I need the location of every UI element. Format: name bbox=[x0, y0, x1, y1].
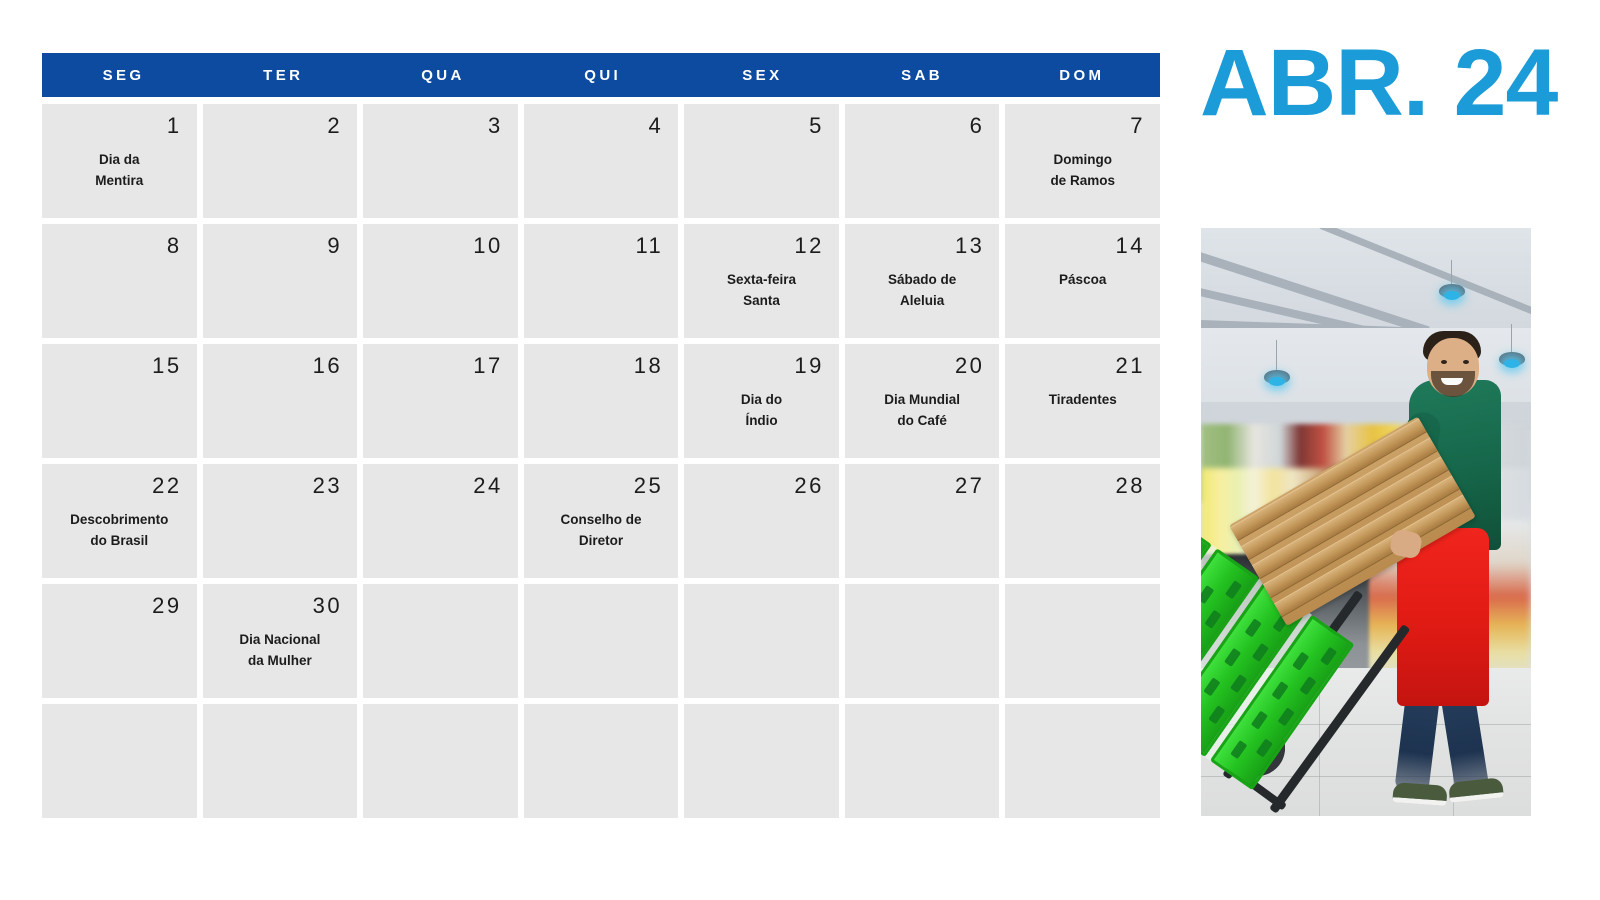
calendar-week-row bbox=[42, 704, 1160, 818]
day-cell[interactable] bbox=[203, 704, 358, 818]
calendar-week-row: 15 16 17 18 19 Dia do Índio bbox=[42, 344, 1160, 458]
photo-lamp-cord bbox=[1451, 260, 1452, 286]
day-event-label: Descobrimento do Brasil bbox=[48, 510, 191, 552]
day-number: 4 bbox=[646, 113, 663, 139]
day-number: 23 bbox=[310, 473, 342, 499]
day-cell[interactable] bbox=[684, 584, 839, 698]
calendar-week-row: 22 Descobrimento do Brasil 23 24 25 Cons… bbox=[42, 464, 1160, 578]
day-cell[interactable]: 24 bbox=[363, 464, 518, 578]
weekday-header-ter: TER bbox=[202, 53, 362, 97]
day-number: 13 bbox=[952, 233, 984, 259]
day-number: 12 bbox=[792, 233, 824, 259]
day-number: 15 bbox=[150, 353, 182, 379]
day-number: 2 bbox=[325, 113, 342, 139]
day-cell[interactable]: 26 bbox=[684, 464, 839, 578]
day-number: 6 bbox=[967, 113, 984, 139]
calendar-weeks: 1 Dia da Mentira 2 3 4 5 bbox=[42, 104, 1160, 818]
day-cell[interactable]: 3 bbox=[363, 104, 518, 218]
day-number: 16 bbox=[310, 353, 342, 379]
day-cell[interactable]: 18 bbox=[524, 344, 679, 458]
day-cell[interactable]: 30 Dia Nacional da Mulher bbox=[203, 584, 358, 698]
day-number: 29 bbox=[150, 593, 182, 619]
photo-illustration bbox=[1201, 228, 1531, 816]
calendar-week-row: 29 30 Dia Nacional da Mulher bbox=[42, 584, 1160, 698]
day-cell[interactable]: 12 Sexta-feira Santa bbox=[684, 224, 839, 338]
day-cell[interactable]: 29 bbox=[42, 584, 197, 698]
day-number: 14 bbox=[1113, 233, 1145, 259]
weekday-header-row: SEG TER QUA QUI SEX SAB DOM bbox=[42, 53, 1160, 97]
day-cell[interactable] bbox=[524, 584, 679, 698]
right-column: ABR. 24 bbox=[1195, 0, 1600, 900]
day-cell[interactable]: 9 bbox=[203, 224, 358, 338]
day-event-label: Dia Mundial do Café bbox=[851, 390, 994, 432]
day-number: 19 bbox=[792, 353, 824, 379]
calendar-page: SEG TER QUA QUI SEX SAB DOM 1 Dia da Men… bbox=[0, 0, 1600, 900]
day-number: 5 bbox=[807, 113, 824, 139]
day-number: 1 bbox=[164, 113, 181, 139]
day-event-label: Conselho de Diretor bbox=[530, 510, 673, 552]
day-cell[interactable] bbox=[845, 584, 1000, 698]
day-cell[interactable] bbox=[42, 704, 197, 818]
day-number: 20 bbox=[952, 353, 984, 379]
day-cell[interactable] bbox=[524, 704, 679, 818]
photo-worker-smile bbox=[1441, 378, 1463, 385]
day-number: 21 bbox=[1113, 353, 1145, 379]
day-cell[interactable] bbox=[363, 584, 518, 698]
day-cell[interactable]: 7 Domingo de Ramos bbox=[1005, 104, 1160, 218]
day-cell[interactable]: 19 Dia do Índio bbox=[684, 344, 839, 458]
day-cell[interactable] bbox=[1005, 704, 1160, 818]
calendar-week-row: 8 9 10 11 12 Sexta-feira Santa bbox=[42, 224, 1160, 338]
day-event-label: Domingo de Ramos bbox=[1011, 150, 1154, 192]
day-number: 3 bbox=[485, 113, 502, 139]
weekday-header-dom: DOM bbox=[1000, 53, 1160, 97]
day-cell[interactable]: 14 Páscoa bbox=[1005, 224, 1160, 338]
day-cell[interactable]: 28 bbox=[1005, 464, 1160, 578]
day-cell[interactable]: 5 bbox=[684, 104, 839, 218]
day-number: 25 bbox=[631, 473, 663, 499]
day-cell[interactable]: 17 bbox=[363, 344, 518, 458]
day-event-label: Dia do Índio bbox=[690, 390, 833, 432]
photo-lamp-cord bbox=[1511, 324, 1512, 354]
day-event-label: Dia Nacional da Mulher bbox=[209, 630, 352, 672]
page-title: ABR. 24 bbox=[1200, 36, 1557, 131]
supermarket-worker-photo bbox=[1201, 228, 1531, 816]
day-number: 8 bbox=[164, 233, 181, 259]
day-cell[interactable]: 11 bbox=[524, 224, 679, 338]
day-number: 26 bbox=[792, 473, 824, 499]
calendar-grid: SEG TER QUA QUI SEX SAB DOM 1 Dia da Men… bbox=[42, 53, 1160, 818]
day-cell[interactable]: 2 bbox=[203, 104, 358, 218]
calendar-week-row: 1 Dia da Mentira 2 3 4 5 bbox=[42, 104, 1160, 218]
photo-ceiling-lamp-icon bbox=[1499, 352, 1525, 366]
day-cell[interactable] bbox=[845, 704, 1000, 818]
day-cell[interactable] bbox=[684, 704, 839, 818]
photo-ceiling-lamp-icon bbox=[1439, 284, 1465, 298]
weekday-header-seg: SEG bbox=[42, 53, 202, 97]
photo-worker-eye bbox=[1463, 360, 1469, 364]
day-cell[interactable]: 10 bbox=[363, 224, 518, 338]
day-cell[interactable]: 6 bbox=[845, 104, 1000, 218]
day-cell[interactable]: 20 Dia Mundial do Café bbox=[845, 344, 1000, 458]
day-cell[interactable]: 13 Sábado de Aleluia bbox=[845, 224, 1000, 338]
day-number: 22 bbox=[150, 473, 182, 499]
day-number: 24 bbox=[471, 473, 503, 499]
day-number: 17 bbox=[471, 353, 503, 379]
day-cell[interactable]: 23 bbox=[203, 464, 358, 578]
day-cell[interactable]: 1 Dia da Mentira bbox=[42, 104, 197, 218]
day-cell[interactable] bbox=[1005, 584, 1160, 698]
day-number: 27 bbox=[952, 473, 984, 499]
day-event-label: Sexta-feira Santa bbox=[690, 270, 833, 312]
photo-worker-eye bbox=[1441, 360, 1447, 364]
day-cell[interactable]: 16 bbox=[203, 344, 358, 458]
day-cell[interactable]: 22 Descobrimento do Brasil bbox=[42, 464, 197, 578]
day-number: 30 bbox=[310, 593, 342, 619]
day-cell[interactable]: 21 Tiradentes bbox=[1005, 344, 1160, 458]
day-cell[interactable] bbox=[363, 704, 518, 818]
day-number: 11 bbox=[633, 233, 663, 259]
day-number: 18 bbox=[631, 353, 663, 379]
weekday-header-sab: SAB bbox=[841, 53, 1001, 97]
day-event-label: Tiradentes bbox=[1011, 390, 1154, 411]
day-cell[interactable]: 15 bbox=[42, 344, 197, 458]
photo-lamp-cord bbox=[1276, 340, 1277, 372]
day-number: 7 bbox=[1128, 113, 1145, 139]
day-cell[interactable]: 25 Conselho de Diretor bbox=[524, 464, 679, 578]
day-number: 9 bbox=[325, 233, 342, 259]
day-event-label: Páscoa bbox=[1011, 270, 1154, 291]
day-cell[interactable]: 8 bbox=[42, 224, 197, 338]
day-number: 10 bbox=[471, 233, 503, 259]
weekday-header-qua: QUA bbox=[361, 53, 521, 97]
weekday-header-sex: SEX bbox=[681, 53, 841, 97]
day-event-label: Sábado de Aleluia bbox=[851, 270, 994, 312]
day-cell[interactable]: 4 bbox=[524, 104, 679, 218]
photo-ceiling-lamp-icon bbox=[1264, 370, 1290, 384]
weekday-header-qui: QUI bbox=[521, 53, 681, 97]
day-cell[interactable]: 27 bbox=[845, 464, 1000, 578]
day-number: 28 bbox=[1113, 473, 1145, 499]
day-event-label: Dia da Mentira bbox=[48, 150, 191, 192]
